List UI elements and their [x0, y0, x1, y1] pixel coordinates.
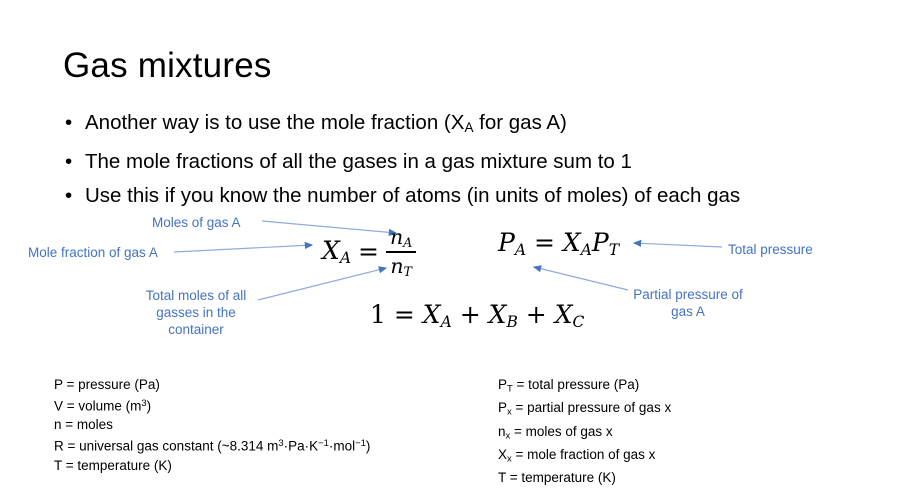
equation-sum-term-c: XC: [555, 300, 585, 329]
legend-row-total-pressure: PT = total pressure (Pa): [498, 375, 671, 398]
equation-mole-fraction-equals: =: [358, 237, 379, 266]
bullet-item-1: •Another way is to use the mole fraction…: [63, 106, 883, 145]
equation-sum-equals: =: [394, 300, 415, 329]
annotation-total-moles: Total moles of all gasses in the contain…: [136, 287, 256, 338]
bullet-marker-2: •: [65, 145, 72, 179]
legend-left-column: P = pressure (Pa) V = volume (m3) n = mo…: [54, 375, 370, 475]
equation-partial-pressure-rhs-pt: PT: [592, 228, 619, 257]
equation-sum-plus-2: +: [526, 300, 547, 329]
legend-row-moles-of-gas: nx = moles of gas x: [498, 422, 671, 445]
equation-sum-one: 1: [370, 300, 386, 329]
equation-partial-pressure-rhs-x: XA: [563, 228, 592, 257]
connector-mole-fraction-of-gas-a: [174, 245, 312, 252]
legend-row-moles: n = moles: [54, 415, 370, 434]
slide-canvas: Gas mixtures •Another way is to use the …: [0, 0, 900, 501]
annotation-total-pressure: Total pressure: [728, 241, 813, 258]
equation-partial-pressure-lhs: PA: [498, 228, 526, 257]
legend-row-temperature-right: T = temperature (K): [498, 468, 671, 487]
equation-sum-term-b: XB: [489, 300, 518, 329]
equation-mole-fraction-sum: 1 = XA + XB + XC: [370, 300, 584, 331]
equation-mole-fraction-denominator: nT: [386, 253, 416, 279]
legend-row-pressure: P = pressure (Pa): [54, 375, 370, 394]
equation-mole-fraction-numerator: nA: [386, 225, 416, 251]
equation-mole-fraction-quotient: nA nT: [386, 225, 416, 279]
bullet-list: •Another way is to use the mole fraction…: [63, 106, 883, 213]
equation-sum-plus-1: +: [460, 300, 481, 329]
bullet-item-3: •Use this if you know the number of atom…: [63, 179, 883, 213]
connector-total-pressure: [634, 243, 722, 247]
bullet-text-1-post: for gas A): [473, 111, 566, 134]
page-title: Gas mixtures: [63, 47, 272, 86]
legend-row-gas-constant: R = universal gas constant (~8.314 m3·Pa…: [54, 434, 370, 455]
legend-row-mole-fraction: Xx = mole fraction of gas x: [498, 445, 671, 468]
annotation-mole-fraction-of-gas-a: Mole fraction of gas A: [28, 244, 158, 261]
annotation-moles-of-gas-a: Moles of gas A: [152, 214, 241, 231]
legend-row-volume: V = volume (m3): [54, 394, 370, 415]
equation-sum-term-a: XA: [423, 300, 452, 329]
connector-partial-pressure: [534, 267, 628, 290]
bullet-text-1-pre: Another way is to use the mole fraction …: [85, 111, 464, 134]
equation-partial-pressure-equals: =: [534, 228, 555, 257]
annotation-partial-pressure-of-gas-a: Partial pressure of gas A: [628, 286, 748, 320]
equation-partial-pressure: PA = XAPT: [498, 228, 619, 259]
legend-row-temperature: T = temperature (K): [54, 456, 370, 475]
bullet-text-3: Use this if you know the number of atoms…: [85, 184, 740, 207]
equation-mole-fraction: XA = nA nT: [322, 225, 416, 279]
equation-mole-fraction-lhs: XA: [322, 236, 351, 267]
bullet-marker-1: •: [65, 106, 72, 140]
legend-right-column: PT = total pressure (Pa) Px = partial pr…: [498, 375, 671, 487]
legend-row-partial-pressure: Px = partial pressure of gas x: [498, 398, 671, 421]
bullet-marker-3: •: [65, 179, 72, 213]
bullet-text-2: The mole fractions of all the gases in a…: [85, 150, 632, 173]
bullet-item-2: •The mole fractions of all the gases in …: [63, 145, 883, 179]
